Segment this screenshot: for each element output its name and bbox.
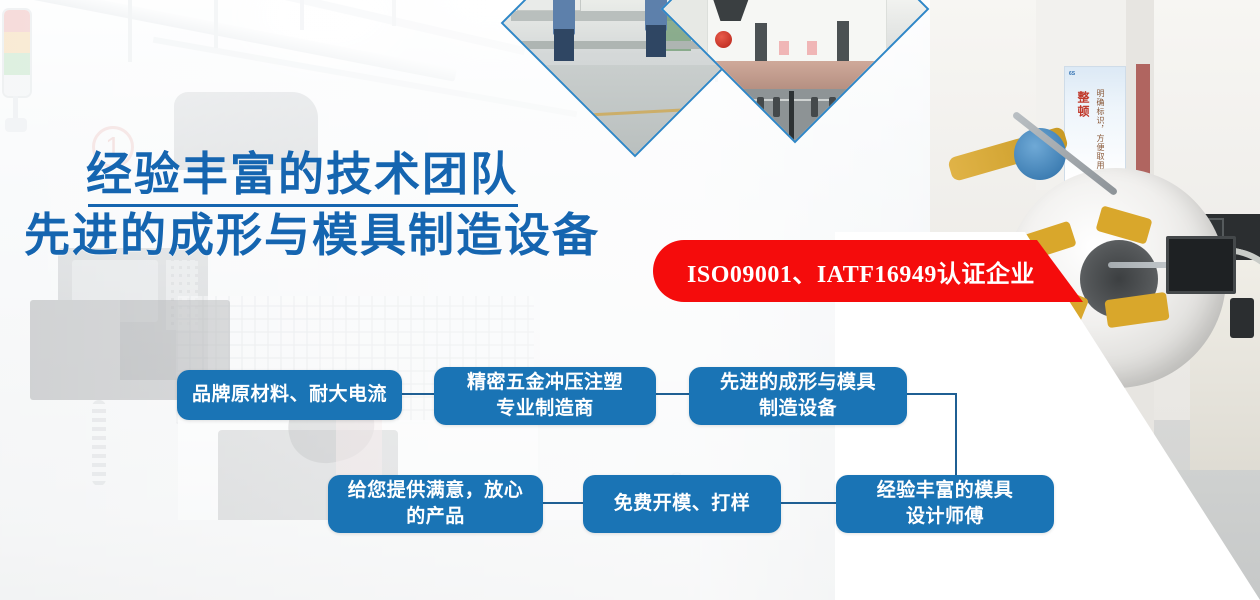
feature-box-experienced-designers[interactable]: 经验丰富的模具 设计师傅: [836, 475, 1054, 533]
press-center-pin: [789, 91, 794, 143]
headline-underline: [88, 204, 518, 207]
feature-box-precision-manufacturer[interactable]: 精密五金冲压注塑 专业制造商: [434, 367, 656, 425]
feature-box-advanced-equipment[interactable]: 先进的成形与模具 制造设备: [689, 367, 907, 425]
feature-box-line: 的产品: [348, 504, 524, 530]
connector-box4-box5: [542, 502, 585, 504]
feature-box-line: 制造设备: [720, 396, 876, 422]
press-pin: [811, 97, 818, 117]
feature-box-satisfying-products[interactable]: 给您提供满意，放心 的产品: [328, 475, 543, 533]
press-ram: [1230, 298, 1254, 338]
connector-box3-box6-vertical: [955, 393, 957, 477]
feature-box-line: 先进的成形与模具: [720, 370, 876, 396]
poster-tag: 6S: [1069, 71, 1075, 77]
feature-box-line: 经验丰富的模具: [877, 478, 1014, 504]
connector-box5-box6: [780, 502, 838, 504]
worker-legs: [646, 25, 666, 57]
certification-badge: ISO09001、IATF16949认证企业: [653, 240, 1083, 302]
headline-block: 经验丰富的技术团队 先进的成形与模具制造设备: [86, 148, 686, 263]
feature-box-line: 给您提供满意，放心: [348, 478, 524, 504]
promo-banner: 1 Gamma 6S 整顿 明确标识，方便取用: [0, 0, 1260, 600]
feature-box-line: 专业制造商: [467, 396, 623, 422]
certification-badge-text: ISO09001、IATF16949认证企业: [687, 254, 1035, 289]
press-pink-tag: [807, 41, 817, 55]
headline-line-1: 经验丰富的技术团队: [86, 148, 686, 201]
press-pin: [773, 97, 780, 117]
feature-box-free-tooling-sample[interactable]: 免费开模、打样: [583, 475, 781, 533]
feature-box-raw-material[interactable]: 品牌原材料、耐大电流: [177, 370, 402, 420]
feature-box-line: 精密五金冲压注塑: [467, 370, 623, 396]
press-column-block: [837, 21, 849, 63]
connector-box1-box2: [401, 393, 436, 395]
poster-sub-text: 明确标识，方便取用: [1095, 89, 1106, 170]
feature-box-line: 设计师傅: [877, 504, 1014, 530]
press-pink-tag: [779, 41, 789, 55]
poster-main-text: 整顿: [1075, 91, 1092, 119]
feature-box-line: 免费开模、打样: [614, 491, 751, 517]
emergency-stop-icon: [715, 31, 732, 48]
press-column-block: [755, 23, 767, 63]
right-photo-monitor: [1166, 236, 1236, 294]
worker-legs: [554, 29, 574, 61]
connector-box2-box3: [655, 393, 691, 395]
connector-box3-box6-horizontal: [905, 393, 957, 395]
feature-box-line: 品牌原材料、耐大电流: [192, 382, 387, 408]
headline-line-2: 先进的成形与模具制造设备: [24, 209, 686, 262]
